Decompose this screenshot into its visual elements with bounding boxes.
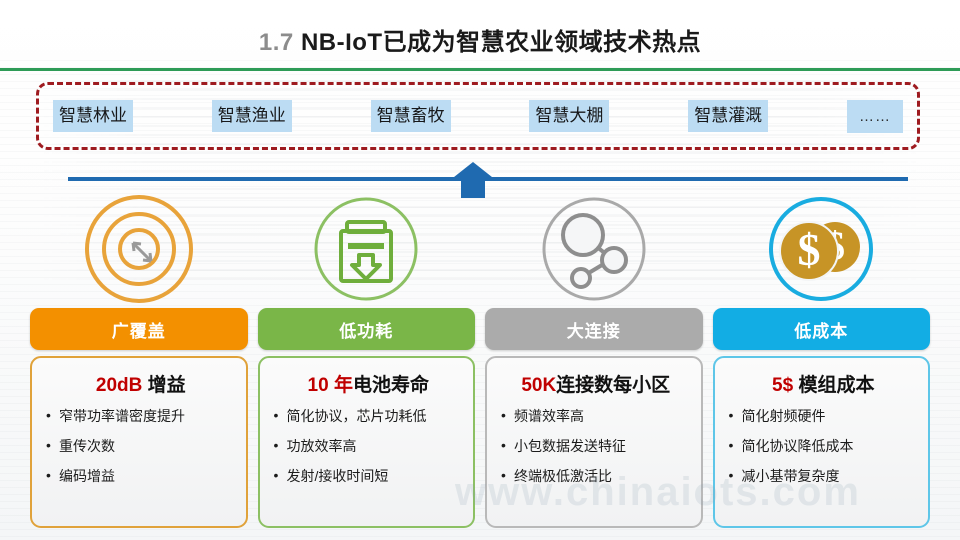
list-item: 终端极低激活比 — [501, 469, 691, 483]
network-nodes-icon — [538, 193, 650, 305]
list-item: 简化射频硬件 — [729, 409, 919, 423]
feature-bullets-low-power: 简化协议，芯片功耗低 功放效率高 发射/接收时间短 — [274, 409, 464, 483]
icon-wrap-battery — [258, 190, 476, 308]
tag-smart-forestry[interactable]: 智慧林业 — [53, 100, 133, 132]
battery-low-power-icon — [310, 193, 422, 305]
list-item: 小包数据发送特征 — [501, 439, 691, 453]
feature-body-massive-connection: 50K连接数每小区 频谱效率高 小包数据发送特征 终端极低激活比 — [485, 356, 703, 528]
headline-highlight-1: 10 年 — [308, 375, 353, 396]
tag-smart-fishery[interactable]: 智慧渔业 — [212, 100, 292, 132]
feature-cap-wide-coverage[interactable]: 广覆盖 — [30, 308, 248, 350]
list-item: 简化协议，芯片功耗低 — [274, 409, 464, 423]
feature-cap-low-cost[interactable]: 低成本 — [713, 308, 931, 350]
list-item: 窄带功率谱密度提升 — [46, 409, 236, 423]
list-item: 编码增益 — [46, 469, 236, 483]
feature-column-low-power: 低功耗 10 年电池寿命 简化协议，芯片功耗低 功放效率高 发射/接收时间短 — [258, 190, 476, 530]
headline-rest-1: 电池寿命 — [353, 375, 429, 396]
headline-highlight-3: 5$ — [772, 375, 793, 396]
tag-smart-livestock[interactable]: 智慧畜牧 — [371, 100, 451, 132]
icon-wrap-coins: $ $ — [713, 190, 931, 308]
tag-more-ellipsis[interactable]: …… — [847, 100, 903, 133]
feature-body-low-cost: 5$ 模组成本 简化射频硬件 简化协议降低成本 减小基带复杂度 — [713, 356, 931, 528]
list-item: 功放效率高 — [274, 439, 464, 453]
feature-columns: 广覆盖 20dB 增益 窄带功率谱密度提升 重传次数 编码增益 — [30, 190, 930, 530]
headline-rest-2: 连接数每小区 — [556, 375, 670, 396]
feature-column-low-cost: $ $ 低成本 5$ 模组成本 简化射频硬件 简化协议降低成本 减小基带复杂度 — [713, 190, 931, 530]
headline-rest-3: 模组成本 — [793, 375, 874, 396]
title-number: 1.7 — [259, 29, 294, 56]
list-item: 简化协议降低成本 — [729, 439, 919, 453]
feature-headline-massive-connection: 50K连接数每小区 — [501, 370, 691, 397]
tag-smart-greenhouse[interactable]: 智慧大棚 — [529, 100, 609, 132]
application-tag-band: 智慧林业 智慧渔业 智慧畜牧 智慧大棚 智慧灌溉 …… — [36, 82, 920, 150]
headline-highlight-0: 20dB — [96, 375, 142, 396]
feature-bullets-wide-coverage: 窄带功率谱密度提升 重传次数 编码增益 — [46, 409, 236, 483]
list-item: 发射/接收时间短 — [274, 469, 464, 483]
feature-body-wide-coverage: 20dB 增益 窄带功率谱密度提升 重传次数 编码增益 — [30, 356, 248, 528]
feature-cap-massive-connection[interactable]: 大连接 — [485, 308, 703, 350]
tag-smart-irrigation[interactable]: 智慧灌溉 — [688, 100, 768, 132]
title-divider — [0, 68, 960, 71]
headline-rest-0: 增益 — [142, 375, 185, 396]
feature-cap-low-power[interactable]: 低功耗 — [258, 308, 476, 350]
icon-wrap-network — [485, 190, 703, 308]
coverage-rings-icon — [83, 193, 195, 305]
list-item: 减小基带复杂度 — [729, 469, 919, 483]
page-title: 1.7 NB-IoT已成为智慧农业领域技术热点 — [0, 22, 960, 57]
title-text: NB-IoT已成为智慧农业领域技术热点 — [301, 29, 701, 56]
headline-highlight-2: 50K — [521, 375, 556, 396]
svg-text:$: $ — [798, 224, 821, 275]
list-item: 重传次数 — [46, 439, 236, 453]
feature-body-low-power: 10 年电池寿命 简化协议，芯片功耗低 功放效率高 发射/接收时间短 — [258, 356, 476, 528]
feature-headline-wide-coverage: 20dB 增益 — [46, 370, 236, 397]
list-item: 频谱效率高 — [501, 409, 691, 423]
feature-bullets-massive-connection: 频谱效率高 小包数据发送特征 终端极低激活比 — [501, 409, 691, 483]
feature-headline-low-cost: 5$ 模组成本 — [729, 370, 919, 397]
tag-row: 智慧林业 智慧渔业 智慧畜牧 智慧大棚 智慧灌溉 …… — [39, 100, 917, 133]
icon-wrap-coverage — [30, 190, 248, 308]
feature-column-wide-coverage: 广覆盖 20dB 增益 窄带功率谱密度提升 重传次数 编码增益 — [30, 190, 248, 530]
dollar-coins-icon: $ $ — [765, 193, 877, 305]
feature-headline-low-power: 10 年电池寿命 — [274, 370, 464, 397]
slide-canvas: 1.7 NB-IoT已成为智慧农业领域技术热点 智慧林业 智慧渔业 智慧畜牧 智… — [0, 0, 960, 540]
feature-column-massive-connection: 大连接 50K连接数每小区 频谱效率高 小包数据发送特征 终端极低激活比 — [485, 190, 703, 530]
feature-bullets-low-cost: 简化射频硬件 简化协议降低成本 减小基带复杂度 — [729, 409, 919, 483]
